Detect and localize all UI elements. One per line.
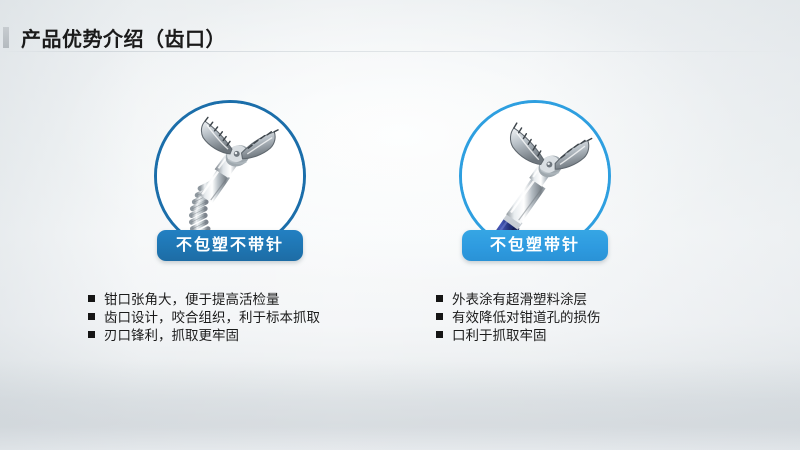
product-card-left[interactable]: 不包塑不带针 — [142, 100, 318, 261]
list-item: 刃口锋利，抓取更牢固 — [88, 327, 320, 345]
list-item: 口利于抓取牢固 — [436, 327, 601, 345]
list-item-label: 齿口设计，咬合组织，利于标本抓取 — [104, 309, 320, 327]
badge-label-left[interactable]: 不包塑不带针 — [157, 230, 303, 261]
badge-label-right[interactable]: 不包塑带针 — [462, 230, 608, 261]
list-item-label: 口利于抓取牢固 — [452, 327, 547, 345]
list-item: 有效降低对钳道孔的损伤 — [436, 309, 601, 327]
bullet-square-icon — [436, 331, 443, 338]
list-item-label: 外表涂有超滑塑料涂层 — [452, 291, 587, 309]
feature-list-right: 外表涂有超滑塑料涂层 有效降低对钳道孔的损伤 口利于抓取牢固 — [436, 291, 601, 345]
page-title-text: 产品优势介绍（齿口） — [21, 23, 226, 52]
list-item-label: 刃口锋利，抓取更牢固 — [104, 327, 239, 345]
bullet-square-icon — [436, 313, 443, 320]
bullet-square-icon — [88, 313, 95, 320]
forceps-uncoated-with-needle-icon — [462, 103, 608, 249]
product-card-right[interactable]: 不包塑带针 — [447, 100, 623, 261]
bullet-square-icon — [436, 295, 443, 302]
bullet-square-icon — [88, 295, 95, 302]
list-item-label: 有效降低对钳道孔的损伤 — [452, 309, 601, 327]
list-item: 齿口设计，咬合组织，利于标本抓取 — [88, 309, 320, 327]
list-item-label: 钳口张角大，便于提高活检量 — [104, 291, 280, 309]
slide-canvas: 产品优势介绍（齿口） — [0, 0, 800, 450]
list-item: 外表涂有超滑塑料涂层 — [436, 291, 601, 309]
feature-list-left: 钳口张角大，便于提高活检量 齿口设计，咬合组织，利于标本抓取 刃口锋利，抓取更牢… — [88, 291, 320, 345]
page-title: 产品优势介绍（齿口） — [0, 22, 226, 52]
list-item: 钳口张角大，便于提高活检量 — [88, 291, 320, 309]
forceps-uncoated-without-needle-icon — [157, 103, 303, 249]
title-accent-bar-icon — [3, 27, 9, 48]
bullet-square-icon — [88, 331, 95, 338]
